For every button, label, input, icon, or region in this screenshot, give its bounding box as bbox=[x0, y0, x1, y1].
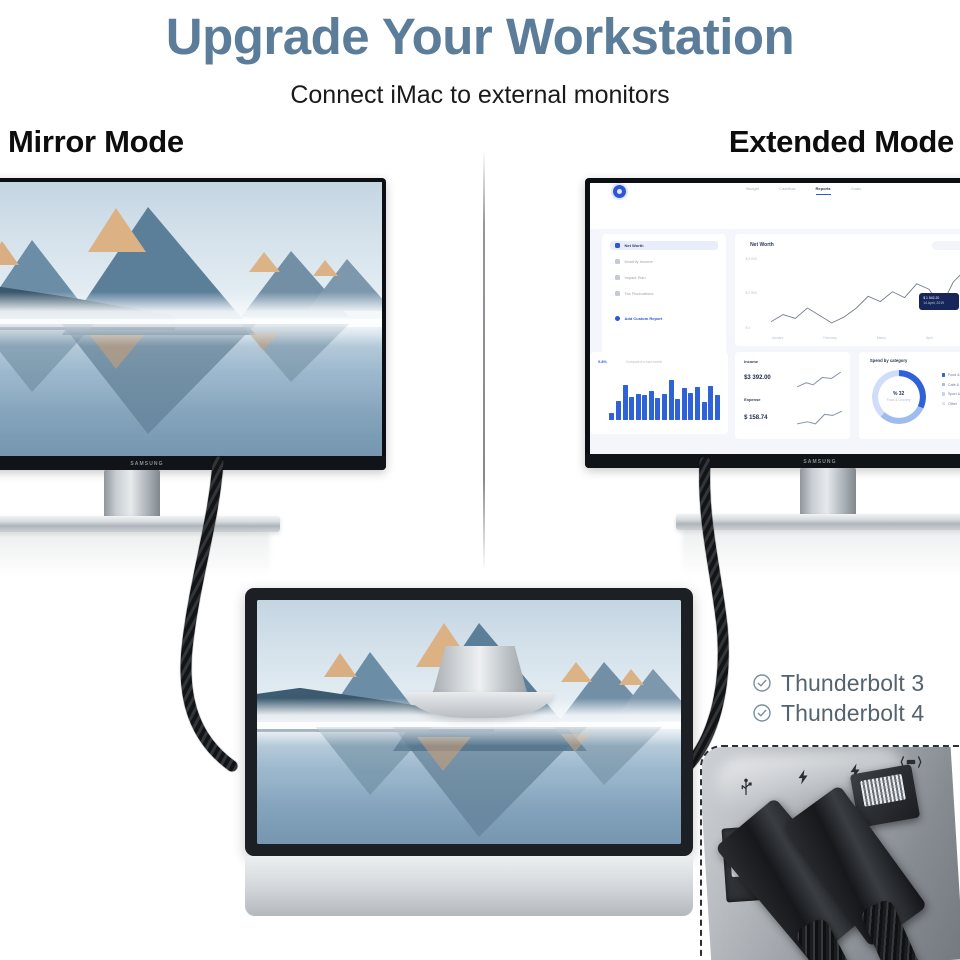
wallpaper-mountain-lake bbox=[257, 600, 681, 844]
bar bbox=[655, 398, 660, 420]
left-monitor-screen bbox=[0, 182, 382, 456]
bar bbox=[662, 394, 667, 420]
spending-note: Compared to last month bbox=[626, 360, 662, 364]
dashboard-logo-icon bbox=[613, 185, 626, 198]
finance-dashboard: Budget Cashflow Reports Goals Elna Ediso… bbox=[590, 183, 960, 454]
dashboard-topbar: Budget Cashflow Reports Goals Elna Ediso… bbox=[590, 183, 960, 229]
wallpaper-mountain-lake bbox=[0, 182, 382, 456]
income-sparkline bbox=[797, 370, 843, 389]
kpi-label-income: Income bbox=[744, 359, 758, 364]
plan-icon bbox=[615, 275, 620, 280]
usb-c-hub-inset: Source USB-C bbox=[700, 745, 960, 960]
sidebar-item-label: Monthly Income bbox=[625, 259, 653, 264]
right-monitor-panel: Budget Cashflow Reports Goals Elna Ediso… bbox=[585, 178, 960, 468]
donut-center-value: % 32 bbox=[893, 391, 904, 397]
x-tick: March bbox=[877, 336, 886, 340]
net-worth-card: Net Worth $ 5 000 $ 2 500 $ 0 bbox=[735, 234, 960, 345]
page-subtitle: Connect iMac to external monitors bbox=[0, 81, 960, 110]
x-tick: April bbox=[926, 336, 933, 340]
right-monitor-screen: Budget Cashflow Reports Goals Elna Ediso… bbox=[590, 183, 960, 454]
net-worth-y-axis: $ 5 000 $ 2 500 $ 0 bbox=[746, 257, 757, 330]
imac-neck bbox=[432, 646, 528, 696]
check-circle-icon bbox=[752, 703, 772, 723]
sidebar-item-tax-fluctuations[interactable]: Tax Fluctuations bbox=[610, 289, 718, 298]
chart-tooltip: $ 1 542.20 14 April, 2019 bbox=[919, 293, 959, 310]
legend-label: Other bbox=[948, 402, 957, 406]
net-worth-x-axis: January February March April May June bbox=[771, 336, 960, 340]
bar bbox=[636, 394, 641, 420]
kpi-value-income: $3 392.00 bbox=[744, 375, 771, 381]
tooltip-date: 14 April, 2019 bbox=[923, 301, 959, 306]
bar bbox=[702, 402, 707, 420]
sidebar-item-add-custom-report[interactable]: Add Custom Report bbox=[610, 314, 718, 323]
feature-item-thunderbolt-3: Thunderbolt 3 bbox=[752, 668, 924, 698]
imac-chin bbox=[245, 856, 693, 916]
thunderbolt-icon bbox=[794, 767, 812, 787]
legend-item: Food & Grocery $ 764.41 bbox=[942, 373, 960, 377]
extended-mode-label: Extended Mode bbox=[729, 124, 954, 160]
sidebar-item-label: Tax Fluctuations bbox=[625, 291, 654, 296]
sidebar-item-impact-plan[interactable]: Impact Plan bbox=[610, 273, 718, 282]
donut-title: Spend by category bbox=[870, 358, 907, 363]
usb-icon bbox=[736, 777, 756, 797]
report-icon bbox=[615, 243, 620, 248]
left-monitor-panel: SAMSUNG bbox=[0, 178, 386, 470]
y-tick: $ 2 500 bbox=[746, 291, 757, 295]
bar bbox=[675, 399, 680, 419]
nav-item-cashflow[interactable]: Cashflow bbox=[779, 186, 795, 195]
dashboard-nav[interactable]: Budget Cashflow Reports Goals bbox=[746, 186, 861, 195]
nav-item-goals[interactable]: Goals bbox=[851, 186, 861, 195]
check-circle-icon bbox=[752, 673, 772, 693]
feature-list: Thunderbolt 3 Thunderbolt 4 bbox=[752, 668, 924, 728]
bar bbox=[715, 395, 720, 420]
left-cable-shadow bbox=[186, 462, 232, 766]
nav-item-reports[interactable]: Reports bbox=[816, 186, 831, 195]
imac-computer bbox=[245, 588, 693, 916]
kpi-label-expense: Expense bbox=[744, 397, 760, 402]
legend-label: Food & Grocery bbox=[948, 373, 960, 377]
donut-center: % 32 Food & Grocery bbox=[872, 370, 926, 424]
imac-body bbox=[245, 588, 693, 856]
right-monitor-reflection bbox=[682, 530, 960, 576]
x-tick: January bbox=[771, 336, 783, 340]
legend-item: Sport & Entertainment $ 324.00 bbox=[942, 392, 960, 396]
left-monitor-base bbox=[0, 516, 280, 532]
plus-circle-icon bbox=[615, 316, 620, 321]
spend-by-category-card: Spend by category % 32 Food & Grocery Fo… bbox=[859, 352, 960, 439]
bar bbox=[649, 391, 654, 419]
bar bbox=[695, 387, 700, 420]
feature-item-thunderbolt-4: Thunderbolt 4 bbox=[752, 698, 924, 728]
mirror-mode-label: Mirror Mode bbox=[8, 124, 184, 160]
legend-label: Sport & Entertainment bbox=[948, 392, 960, 396]
sidebar-item-label: Impact Plan bbox=[625, 275, 646, 280]
bar bbox=[629, 397, 634, 420]
donut-center-label: Food & Grocery bbox=[887, 398, 911, 402]
donut-legend: Food & Grocery $ 764.41 Cafe & Restauran… bbox=[942, 373, 960, 411]
left-monitor-brand: SAMSUNG bbox=[0, 461, 386, 467]
product-infographic: Upgrade Your Workstation Connect iMac to… bbox=[0, 0, 960, 960]
legend-label: Cafe & Restaurants bbox=[948, 383, 960, 387]
y-tick: $ 5 000 bbox=[746, 257, 757, 261]
left-cable bbox=[186, 462, 232, 766]
sidebar-item-label: Add Custom Report bbox=[625, 316, 663, 321]
legend-swatch bbox=[942, 402, 945, 405]
legend-item: Cafe & Restaurants $ 512.10 bbox=[942, 383, 960, 387]
date-range-filter[interactable] bbox=[932, 241, 960, 250]
legend-item: Other $ 148.80 bbox=[942, 402, 960, 406]
spending-percent: 6.8% bbox=[598, 360, 607, 364]
imac-screen bbox=[257, 600, 681, 844]
right-monitor-base bbox=[676, 514, 960, 530]
bar bbox=[688, 393, 693, 420]
x-tick: February bbox=[823, 336, 837, 340]
nav-item-budget[interactable]: Budget bbox=[746, 186, 759, 195]
right-monitor-brand: SAMSUNG bbox=[585, 459, 960, 465]
bar bbox=[623, 385, 628, 420]
bar bbox=[616, 401, 621, 420]
left-monitor-reflection bbox=[0, 532, 270, 578]
kpi-value-expense: $ 158.74 bbox=[744, 415, 767, 421]
sidebar-item-monthly-income[interactable]: Monthly Income bbox=[610, 257, 718, 266]
sidebar-item-net-worth[interactable]: Net Worth bbox=[610, 241, 718, 250]
bar bbox=[669, 380, 674, 420]
net-worth-line-chart: $ 1 542.20 14 April, 2019 bbox=[771, 254, 960, 327]
spending-bars bbox=[609, 380, 719, 420]
right-monitor-chin: SAMSUNG bbox=[585, 454, 960, 468]
bar bbox=[609, 413, 614, 420]
legend-swatch bbox=[942, 373, 945, 376]
y-tick: $ 0 bbox=[746, 326, 757, 330]
legend-swatch bbox=[942, 383, 945, 386]
net-worth-svg bbox=[771, 254, 960, 327]
left-monitor-chin: SAMSUNG bbox=[0, 456, 386, 470]
expense-sparkline bbox=[797, 408, 843, 427]
bar bbox=[642, 395, 647, 420]
feature-label: Thunderbolt 3 bbox=[781, 670, 924, 697]
feature-label: Thunderbolt 4 bbox=[781, 700, 924, 727]
legend-swatch bbox=[942, 392, 945, 395]
spending-bar-card: 6.8% Compared to last month bbox=[590, 352, 728, 433]
kpi-card: Income $3 392.00 Expense $ 158.74 bbox=[735, 352, 850, 439]
net-worth-title: Net Worth bbox=[750, 242, 774, 248]
sidebar-item-label: Net Worth bbox=[625, 243, 644, 248]
income-icon bbox=[615, 259, 620, 264]
tax-icon bbox=[615, 291, 620, 296]
bar bbox=[682, 388, 687, 420]
page-title: Upgrade Your Workstation bbox=[0, 10, 960, 64]
section-divider bbox=[483, 150, 485, 570]
bar bbox=[708, 386, 713, 420]
